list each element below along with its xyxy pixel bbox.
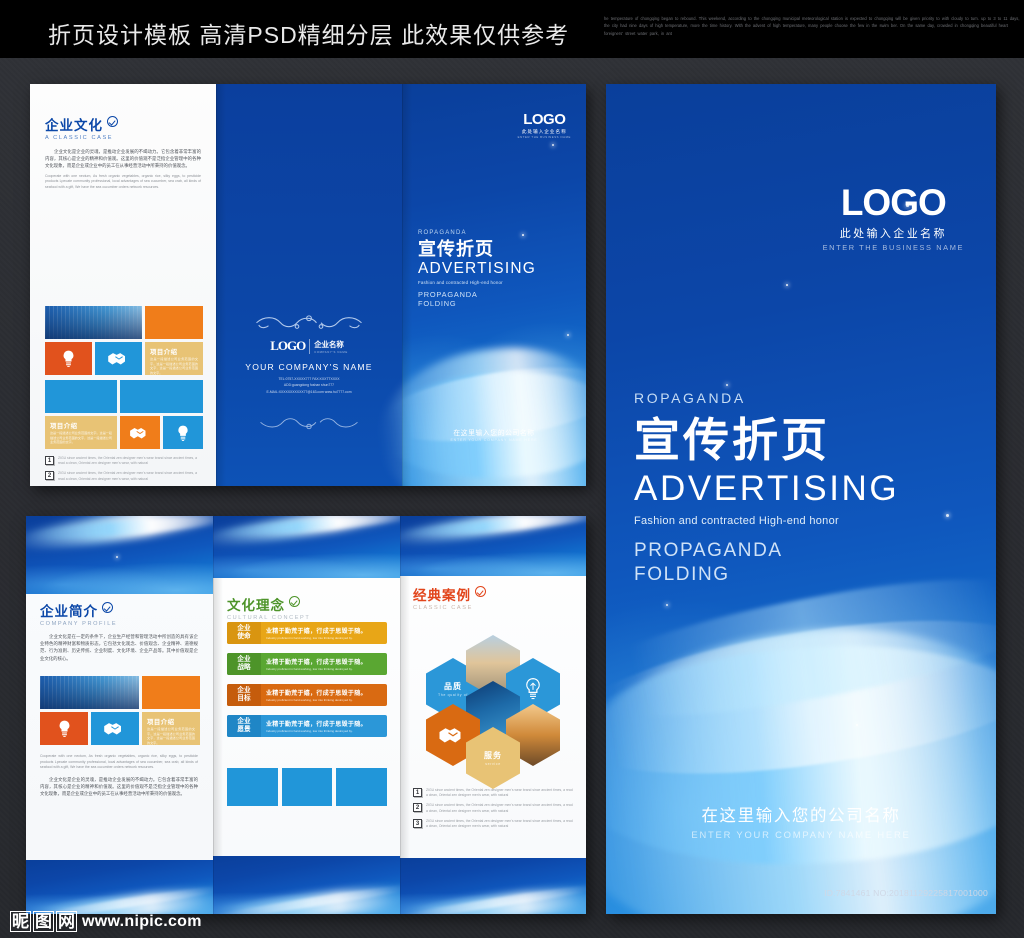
list-item: 3 ZIGU since ancient times, the Oriental… (413, 819, 573, 829)
handshake-icon (107, 351, 131, 366)
handshake-icon (129, 426, 151, 440)
photo-tile-row (227, 768, 387, 806)
paragraph-cn-1: 企业文化是在一定的条件下，企业生产经营和管理活动中所创造的具有该企业特色的精神财… (40, 633, 198, 662)
watermark-char-1: 昵 (10, 911, 31, 932)
tagline: Fashion and contracted High-end honor (418, 280, 536, 285)
watermark-logo-cn: 昵 图 网 (10, 911, 77, 932)
check-circle-icon (102, 602, 113, 613)
watermark-url: www.nipic.com (82, 913, 202, 931)
lightbulb-icon (176, 425, 190, 441)
lightbulb-icon (523, 677, 543, 701)
concept-bar-cn: 业精于勤荒于嬉，行成于思毁于随。 (266, 626, 382, 635)
concept-bar[interactable]: 企业 战略 业精于勤荒于嬉，行成于思毁于随。 Industry proficie… (227, 653, 387, 675)
cover-title-block: ROPAGANDA 宣传折页 ADVERTISING Fashion and c… (634, 390, 899, 587)
lightbulb-icon (57, 720, 72, 737)
kicker-text: ROPAGANDA (634, 390, 899, 406)
kicker-text: ROPAGANDA (418, 230, 536, 236)
logo-text: LOGO (518, 112, 571, 127)
cover-footer-block: 在这里输入您的公司名称 ENTER YOUR COMPANY NAME HERE (606, 802, 996, 840)
logo-company-cn: 企业名称 (314, 339, 348, 350)
trifold-top-panel-right: LOGO 此处输入企业名称 ENTER THE BUSINESS NAME RO… (402, 84, 586, 486)
tile-grid-lower: 项目介绍 这是一段描述公司业务范围的文字。这是一段描述公司业务范围的文字，这是一… (45, 380, 201, 449)
tile-bulb-blue[interactable] (163, 416, 203, 449)
list-text: ZIGU since ancient times, the Oriental z… (426, 788, 573, 798)
paragraph-en: Cooperate with one nectum, As fresh orga… (45, 174, 201, 191)
tile-orange[interactable] (145, 306, 203, 339)
trifold-top-spread[interactable]: 企业文化 A CLASSIC CASE 企业文化是企业的灵魂，是推动企业发展的不… (30, 84, 586, 486)
list-number: 2 (45, 471, 54, 480)
logo-company-en: ENTER THE BUSINESS NAME (518, 135, 571, 139)
tile-photo-city[interactable] (40, 676, 139, 709)
photo-tile[interactable] (227, 768, 278, 806)
concept-bar-list: 企业 使命 业精于勤荒于嬉，行成于思毁于随。 Industry proficie… (227, 622, 387, 737)
tile-handshake-blue[interactable] (95, 342, 142, 375)
concept-bar[interactable]: 企业 使命 业精于勤荒于嬉，行成于思毁于随。 Industry proficie… (227, 622, 387, 644)
subtitle-line-2: FOLDING (634, 563, 899, 587)
concept-bar-en: Industry proficient in hard-working, low… (266, 729, 382, 733)
check-circle-icon (289, 596, 300, 607)
handshake-icon (438, 726, 468, 744)
list-number: 1 (45, 456, 54, 465)
heading-corporate-culture: 企业文化 (45, 114, 201, 134)
trifold-bottom-panel-right: 经典案例 CLASSIC CASE 品质 The quality of (400, 516, 586, 914)
list-text: ZIGU since ancient times, the Oriental z… (426, 819, 573, 829)
list-item: 1 ZIGU since ancient times, the Oriental… (45, 456, 201, 466)
hexagon-label-cn: 服务 (484, 750, 502, 761)
tile-title: 项目介绍 (50, 421, 78, 430)
trifold-top-panel-left: 企业文化 A CLASSIC CASE 企业文化是企业的灵魂，是推动企业发展的不… (30, 84, 216, 486)
check-circle-icon (107, 116, 118, 127)
title-en: ADVERTISING (418, 260, 536, 278)
list-item: 2 ZIGU since ancient times, the Oriental… (45, 471, 201, 481)
concept-bar-en: Industry proficient in hard-working, low… (266, 636, 382, 640)
subtitle-line-2: FOLDING (418, 299, 536, 308)
list-number: 3 (413, 819, 422, 828)
footer-company-cn: 在这里输入您的公司名称 (606, 802, 996, 826)
logo-text: LOGO (823, 184, 964, 222)
heading-classic-case-en: CLASSIC CASE (413, 605, 573, 611)
tagline: Fashion and contracted High-end honor (634, 515, 899, 527)
company-name-en: YOUR COMPANY'S NAME (216, 362, 402, 372)
asset-id-text: ID:7841461 NO:20181129225817001000 (824, 888, 988, 898)
watermark-char-2: 图 (33, 911, 54, 932)
footer-company-cn: 在这里输入您的公司名称 (402, 427, 586, 437)
hexagon-label-en: The quality of (438, 693, 468, 697)
contact-email: E-MAIL:XXXXXXXXXXX77@163.com www.hu7777.… (216, 389, 402, 395)
tile-handshake-blue[interactable] (91, 712, 139, 745)
title-cn: 宣传折页 (634, 412, 899, 468)
tile-title: 项目介绍 (150, 347, 178, 356)
heading-cultural-concept-en: CULTURAL CONCEPT (227, 615, 387, 621)
photo-tile[interactable] (282, 768, 333, 806)
page-title: 折页设计模板 高清PSD精细分层 此效果仅供参考 (48, 16, 569, 50)
concept-bar-cn: 业精于勤荒于嬉，行成于思毁于随。 (266, 688, 382, 697)
heading-company-profile: 企业简介 (40, 600, 198, 620)
lightbulb-icon (61, 350, 76, 367)
subtitle-line-1: PROPAGANDA (418, 290, 536, 299)
logo-company-en: ENTER THE BUSINESS NAME (823, 243, 964, 252)
tile-title: 项目介绍 (147, 717, 175, 726)
tile-text: 这是一段描述公司业务范围的文字。这是一段描述公司业务范围的文字，这是一段描述公司… (150, 357, 198, 375)
concept-bar[interactable]: 企业 目标 业精于勤荒于嬉，行成于思毁于随。 Industry proficie… (227, 684, 387, 706)
hexagon-cluster: 品质 The quality of 服务 service (412, 624, 574, 784)
tile-project-intro-sand-2[interactable]: 项目介绍 这是一段描述公司业务范围的文字。这是一段描述公司业务范围的文字，这是一… (45, 416, 117, 449)
tile-orange[interactable] (142, 676, 200, 709)
ornament-flourish-icon (249, 312, 369, 332)
footer-company-en: ENTER YOUR COMPANY NAME HERE (606, 829, 996, 840)
ornament-flourish-icon-bottom (249, 414, 369, 432)
screenshot-root: 折页设计模板 高清PSD精细分层 此效果仅供参考 he temperature … (0, 0, 1024, 938)
hexagon-label-cn: 品质 (444, 681, 462, 692)
tile-photo-city[interactable] (45, 306, 142, 339)
tile-text: 这是一段描述公司业务范围的文字。这是一段描述公司业务范围的文字，这是一段描述公司… (50, 431, 112, 445)
footer-company-en: ENTER YOUR COMPANY NAME HERE (402, 438, 586, 442)
tile-project-intro-sand[interactable]: 项目介绍 这是一段描述公司业务范围的文字。这是一段描述公司业务范围的文字，这是一… (145, 342, 203, 375)
photo-tile[interactable] (336, 768, 387, 806)
logo-text: LOGO (270, 338, 305, 354)
tile-bulb-red[interactable] (45, 342, 92, 375)
logo-company-en: COMPANY'S NAME (314, 350, 348, 354)
cover-logo-block: LOGO 此处输入企业名称 ENTER THE BUSINESS NAME (823, 184, 964, 252)
hexagon-label-en: service (485, 762, 501, 766)
paragraph-en: Cooperate with one nectum, As fresh orga… (40, 754, 198, 771)
paragraph-cn: 企业文化是企业的灵魂，是推动企业发展的不竭动力。它包含着非常丰富的内容，其核心是… (45, 148, 201, 170)
list-number: 2 (413, 803, 422, 812)
concept-bar-cn: 业精于勤荒于嬉，行成于思毁于随。 (266, 719, 382, 728)
concept-bar-en: Industry proficient in hard-working, low… (266, 698, 382, 702)
numbered-list: 1 ZIGU since ancient times, the Oriental… (413, 788, 573, 829)
logo-company-cn: 此处输入企业名称 (823, 225, 964, 241)
handshake-icon (103, 721, 127, 736)
watermark-char-3: 网 (56, 911, 77, 932)
trifold-bottom-spread[interactable]: 企业简介 COMPANY PROFILE 企业文化是在一定的条件下，企业生产经营… (26, 516, 586, 914)
tile-text: 这是一段描述公司业务范围的文字。这是一段描述公司业务范围的文字，这是一段描述公司… (147, 727, 195, 745)
header-english-blurb: he temperature of chongqing began to reb… (604, 15, 1024, 37)
subtitle-line-1: PROPAGANDA (634, 539, 899, 563)
list-text: ZIGU since ancient times, the Oriental z… (58, 456, 201, 466)
list-text: ZIGU since ancient times, the Oriental z… (426, 803, 573, 813)
check-circle-icon (475, 586, 486, 597)
list-number: 1 (413, 788, 422, 797)
trifold-bottom-panel-left: 企业简介 COMPANY PROFILE 企业文化是在一定的条件下，企业生产经营… (26, 516, 213, 914)
list-text: ZIGU since ancient times, the Oriental z… (58, 471, 201, 481)
heading-cultural-concept: 文化理念 (227, 594, 387, 614)
tile-blue-a[interactable] (45, 380, 117, 413)
trifold-top-panel-middle: LOGO 企业名称 COMPANY'S NAME YOUR COMPANY'S … (216, 84, 402, 486)
list-item: 1 ZIGU since ancient times, the Oriental… (413, 788, 573, 798)
trifold-bottom-panel-middle: 文化理念 CULTURAL CONCEPT 企业 使命 业精于勤荒于嬉，行成于思… (213, 516, 400, 914)
tile-bulb-red[interactable] (40, 712, 88, 745)
concept-bar-cn: 业精于勤荒于嬉，行成于思毁于随。 (266, 657, 382, 666)
title-en: ADVERTISING (634, 468, 899, 510)
list-item: 2 ZIGU since ancient times, the Oriental… (413, 803, 573, 813)
tile-blue-b[interactable] (120, 380, 203, 413)
concept-bar-en: Industry proficient in hard-working, low… (266, 667, 382, 671)
site-watermark: 昵 图 网 www.nipic.com (10, 911, 202, 932)
tile-handshake-orange[interactable] (120, 416, 160, 449)
tile-grid: 项目介绍 这是一段描述公司业务范围的文字。这是一段描述公司业务范围的文字，这是一… (40, 676, 198, 745)
concept-bar[interactable]: 企业 愿景 业精于勤荒于嬉，行成于思毁于随。 Industry proficie… (227, 715, 387, 737)
header-bar: 折页设计模板 高清PSD精细分层 此效果仅供参考 he temperature … (0, 0, 1024, 58)
title-cn: 宣传折页 (418, 239, 536, 260)
paragraph-cn-2: 企业文化是企业的灵魂，是推动企业发展的不竭动力。它包含着非常丰富的内容，其核心是… (40, 776, 198, 798)
tile-grid-upper: 项目介绍 这是一段描述公司业务范围的文字。这是一段描述公司业务范围的文字，这是一… (45, 306, 201, 375)
cover-poster[interactable]: LOGO 此处输入企业名称 ENTER THE BUSINESS NAME RO… (606, 84, 996, 914)
numbered-list: 1 ZIGU since ancient times, the Oriental… (45, 456, 201, 486)
heading-classic-case: 经典案例 (413, 584, 573, 604)
tile-project-intro-sand[interactable]: 项目介绍 这是一段描述公司业务范围的文字。这是一段描述公司业务范围的文字，这是一… (142, 712, 200, 745)
